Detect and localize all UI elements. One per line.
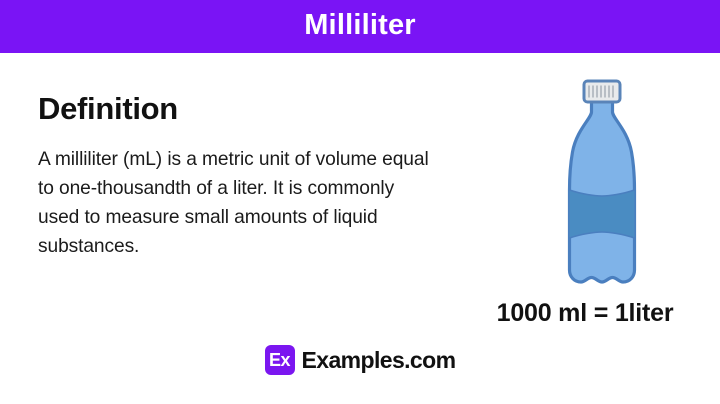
logo-wordmark: Examples.com [302, 349, 456, 372]
water-bottle-illustration [548, 74, 652, 294]
page-title: Milliliter [304, 11, 416, 42]
definition-section: Definition A milliliter (mL) is a metric… [38, 92, 448, 261]
definition-heading: Definition [38, 92, 448, 127]
bottle-label-band [570, 190, 635, 238]
bottle-body-shape [570, 100, 635, 282]
header-banner: Milliliter [0, 0, 720, 53]
logo-mark-icon: Ex [265, 345, 295, 375]
site-logo[interactable]: Ex Examples.com [0, 345, 720, 375]
bottle-cap-ribs [589, 86, 613, 98]
equation-caption: 1000 ml = 1liter [460, 300, 710, 328]
infographic-page: Milliliter Definition A milliliter (mL) … [0, 0, 720, 404]
water-bottle-icon [548, 74, 652, 294]
definition-body-text: A milliliter (mL) is a metric unit of vo… [38, 145, 438, 262]
